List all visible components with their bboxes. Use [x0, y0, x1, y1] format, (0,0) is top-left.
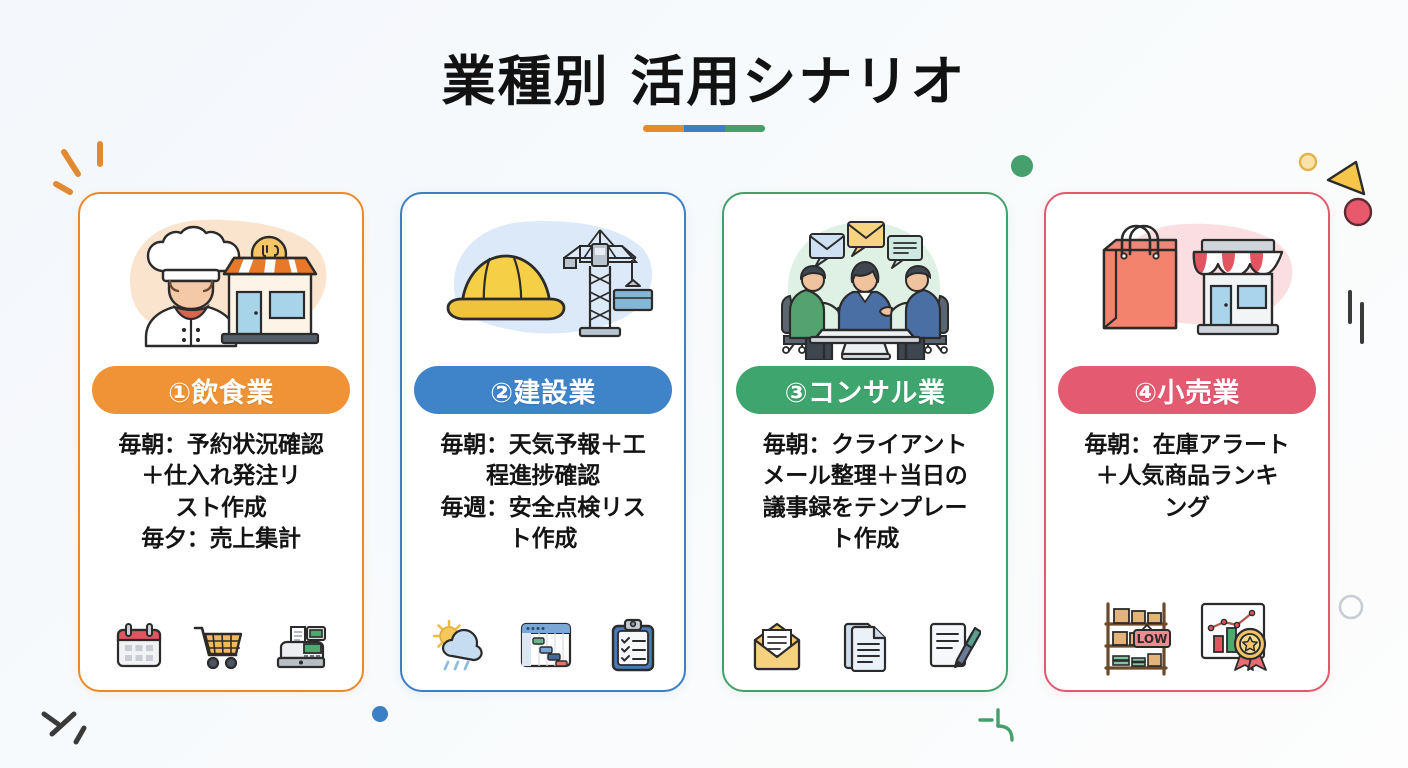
scenario-card-retail[interactable]: ④小売業 毎朝：在庫アラート ＋人気商品ランキ ング: [1044, 192, 1330, 692]
sparkle-bottom-left-dark: [34, 692, 144, 762]
arc-mark-green: [972, 702, 1034, 754]
underline-segment-orange: [643, 125, 684, 132]
scenario-card-list: ①飲食業 毎朝：予約状況確認 ＋仕入れ発注リ スト作成 毎夕：売上集計: [78, 192, 1330, 692]
card-text-retail: 毎朝：在庫アラート ＋人気商品ランキ ング: [1058, 430, 1316, 524]
card-line: 毎朝：在庫アラート: [1058, 430, 1316, 461]
scenario-card-food[interactable]: ①飲食業 毎朝：予約状況確認 ＋仕入れ発注リ スト作成 毎夕：売上集計: [78, 192, 364, 692]
scenario-card-construction[interactable]: ②建設業 毎朝：天気予報＋工 程進捗確認 毎週：安全点検リス ト作成: [400, 192, 686, 692]
dot-blue: [366, 700, 398, 732]
card-line: メール整理＋当日の: [736, 461, 994, 492]
shopping-cart-icon: [191, 620, 247, 672]
page-title: 業種別 活用シナリオ: [0, 52, 1408, 111]
page-header: 業種別 活用シナリオ: [0, 52, 1408, 132]
dot-red-outlined: [1338, 192, 1380, 234]
shopping-bag-illustration: [1104, 226, 1176, 328]
scenario-card-consulting[interactable]: ③コンサル業 毎朝：クライアント メール整理＋当日の 議事録をテンプレー ト作成: [722, 192, 1008, 692]
card-line: ト作成: [414, 524, 672, 555]
low-stock-label: LOW: [1137, 632, 1168, 646]
card-icon-row-retail: LOW: [1046, 600, 1328, 676]
card-line: 毎朝：クライアント: [736, 430, 994, 461]
cash-register-icon: [273, 620, 329, 672]
inventory-shelf-low-stock-icon: LOW: [1098, 600, 1178, 676]
circle-outline-grey: [1332, 588, 1372, 628]
card-icon-row-construction: [402, 618, 684, 672]
document-stack-icon: [839, 618, 891, 672]
card-line: ト作成: [736, 524, 994, 555]
card-line: スト作成: [92, 493, 350, 524]
underline-segment-green: [725, 125, 765, 132]
card-hero-illustration-food: [96, 208, 346, 360]
card-line: ＋人気商品ランキ: [1058, 461, 1316, 492]
bars-dark-right: [1340, 286, 1380, 352]
card-text-construction: 毎朝：天気予報＋工 程進捗確認 毎週：安全点検リス ト作成: [414, 430, 672, 555]
card-line: 程進捗確認: [414, 461, 672, 492]
clipboard-checklist-icon: [608, 618, 658, 672]
dot-green: [1008, 152, 1040, 184]
sales-chart-award-icon: [1196, 600, 1276, 676]
document-pen-icon: [925, 618, 981, 672]
card-badge-construction: ②建設業: [414, 366, 672, 414]
triangle-yellow-icon: [1322, 156, 1376, 204]
card-hero-illustration-construction: [418, 208, 668, 360]
card-hero-illustration-retail: [1062, 208, 1312, 360]
card-hero-illustration-consulting: [740, 208, 990, 360]
retail-storefront-illustration: [1194, 240, 1282, 334]
card-line: 毎朝：天気予報＋工: [414, 430, 672, 461]
card-line: 毎朝：予約状況確認: [92, 430, 350, 461]
calendar-icon: [113, 620, 165, 672]
card-badge-consulting: ③コンサル業: [736, 366, 994, 414]
open-envelope-icon: [749, 620, 805, 672]
circle-outline-yellow: [1292, 146, 1328, 182]
card-line: 議事録をテンプレー: [736, 493, 994, 524]
card-icon-row-consulting: [724, 618, 1006, 672]
underline-segment-blue: [684, 125, 724, 132]
title-underline-accent: [643, 125, 765, 132]
card-badge-retail: ④小売業: [1058, 366, 1316, 414]
card-line: 毎夕：売上集計: [92, 524, 350, 555]
card-line: ング: [1058, 493, 1316, 524]
meeting-team-illustration: [782, 262, 948, 360]
card-line: ＋仕入れ発注リ: [92, 461, 350, 492]
card-icon-row-food: [80, 620, 362, 672]
card-line: 毎週：安全点検リス: [414, 493, 672, 524]
gantt-chart-icon: [518, 618, 574, 672]
card-text-food: 毎朝：予約状況確認 ＋仕入れ発注リ スト作成 毎夕：売上集計: [92, 430, 350, 555]
card-text-consulting: 毎朝：クライアント メール整理＋当日の 議事録をテンプレー ト作成: [736, 430, 994, 555]
weather-sun-cloud-rain-icon: [428, 618, 484, 672]
card-badge-food: ①飲食業: [92, 366, 350, 414]
